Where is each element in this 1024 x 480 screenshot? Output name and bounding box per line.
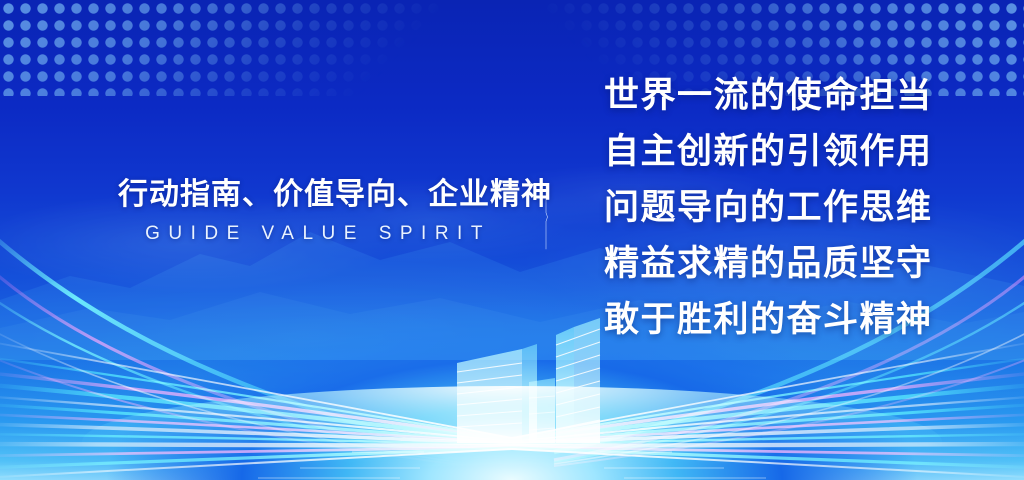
slogan-line: 敢于胜利的奋斗精神 [604, 292, 1004, 348]
halftone-dot-pattern [0, 0, 1024, 96]
landscape-backdrop [0, 110, 1024, 400]
vertical-divider [545, 88, 548, 346]
corporate-culture-banner: 行动指南、价值导向、企业精神 GUIDE VALUE SPIRIT 世界一流的使… [0, 0, 1024, 480]
left-title: 行动指南、价值导向、企业精神 [118, 176, 518, 214]
light-ray-streaks [0, 0, 1024, 480]
slogan-line: 自主创新的引领作用 [604, 124, 1004, 180]
left-subtitle: GUIDE VALUE SPIRIT [118, 223, 518, 245]
dot-grid-right [544, 0, 1024, 96]
slogan-line: 世界一流的使命担当 [604, 68, 1004, 124]
slogan-list: 世界一流的使命担当 自主创新的引领作用 问题导向的工作思维 精益求精的品质坚守 … [604, 68, 1004, 348]
chevron-right-icon [546, 185, 548, 250]
ground-glow-plane [0, 0, 1024, 480]
slogan-line: 精益求精的品质坚守 [604, 236, 1004, 292]
glass-skyscrapers [0, 0, 1024, 480]
left-text-block: 行动指南、价值导向、企业精神 GUIDE VALUE SPIRIT [118, 176, 518, 245]
light-arc-curves [0, 0, 1024, 480]
mountain-ridge-silhouette [0, 180, 1024, 360]
dot-grid-left [0, 0, 440, 96]
slogan-line: 问题导向的工作思维 [604, 180, 1004, 236]
